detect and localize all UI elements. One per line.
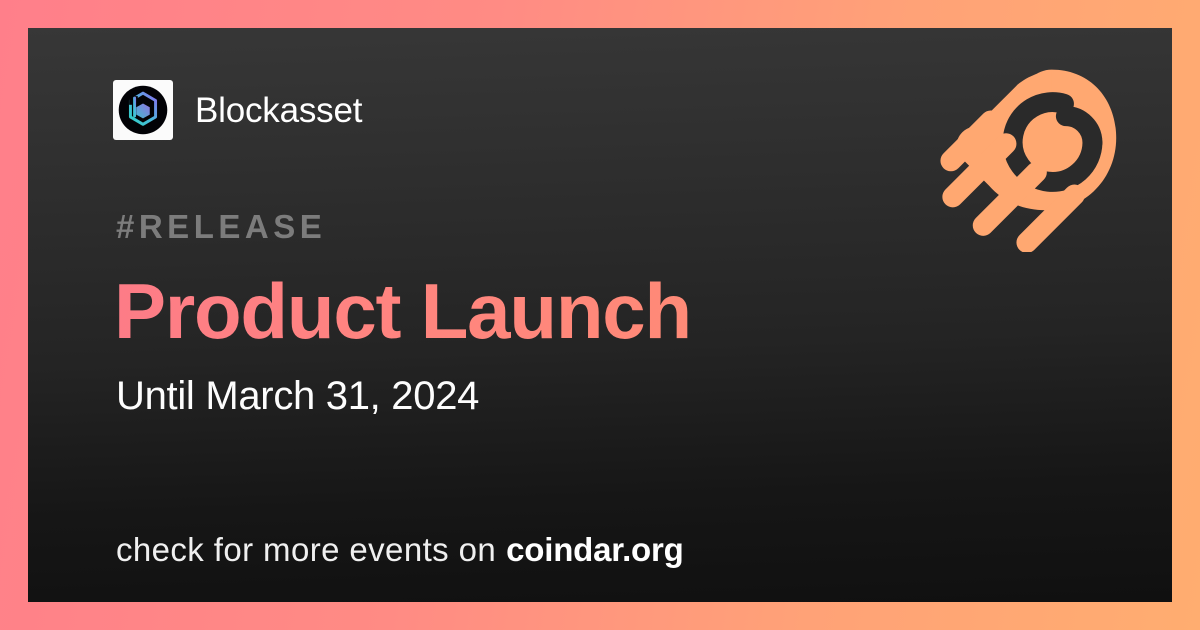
project-header: Blockasset: [113, 80, 362, 140]
blockasset-hexagon-b-logo-icon: [113, 80, 173, 140]
coindar-comet-icon: [930, 62, 1120, 252]
coindar-site-link[interactable]: coindar.org: [506, 531, 684, 568]
footer-note: check for more events oncoindar.org: [116, 533, 684, 566]
event-category-tag: #RELEASE: [116, 210, 326, 243]
event-banner: Blockasset #RELEASE Product Launch Until…: [0, 0, 1200, 630]
project-name: Blockasset: [195, 93, 362, 128]
event-card: Blockasset #RELEASE Product Launch Until…: [28, 28, 1172, 602]
footer-prefix-text: check for more events on: [116, 531, 496, 568]
event-date: Until March 31, 2024: [116, 376, 479, 416]
event-title: Product Launch: [114, 271, 691, 353]
